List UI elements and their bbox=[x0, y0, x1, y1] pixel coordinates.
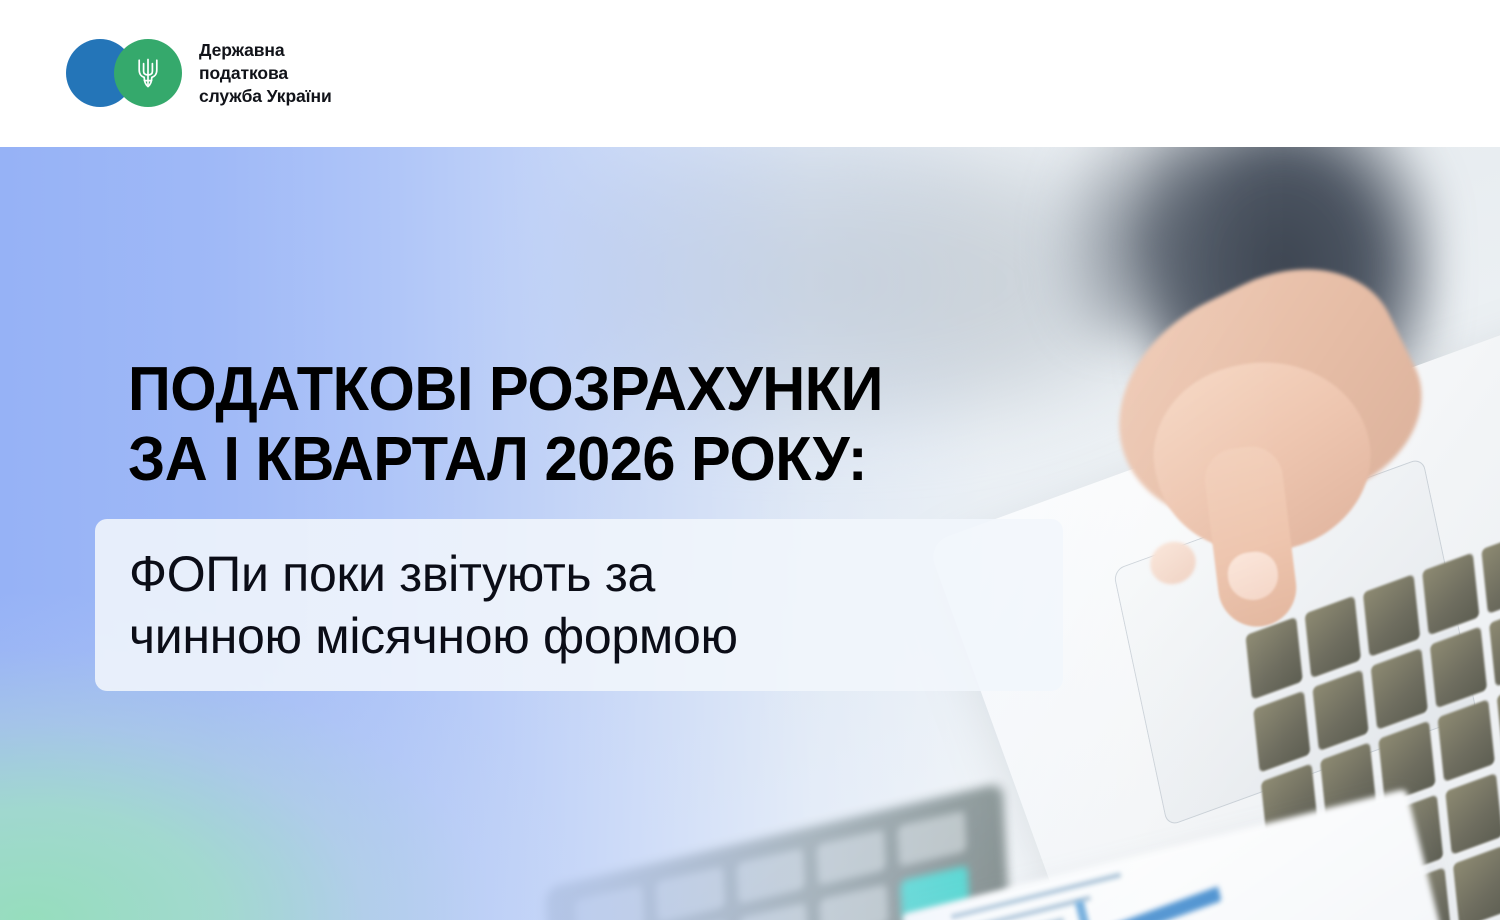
page-title: ПОДАТКОВІ РОЗРАХУНКИ ЗА І КВАРТАЛ 2026 Р… bbox=[128, 355, 883, 495]
hero-copy: ПОДАТКОВІ РОЗРАХУНКИ ЗА І КВАРТАЛ 2026 Р… bbox=[0, 147, 1500, 920]
page-subtitle: ФОПи поки звітують за чинною місячною фо… bbox=[129, 543, 738, 667]
ukrainian-trident-icon bbox=[133, 54, 163, 92]
header-bar: Державна податкова служба України bbox=[0, 0, 1500, 147]
tax-service-announcement-banner: Державна податкова служба України bbox=[0, 0, 1500, 920]
organization-logo[interactable]: Державна податкова служба України bbox=[66, 39, 332, 109]
logo-marks bbox=[66, 39, 182, 107]
logo-text: Державна податкова служба України bbox=[199, 39, 332, 109]
green-circle-icon bbox=[114, 39, 182, 107]
subtitle-panel: ФОПи поки звітують за чинною місячною фо… bbox=[95, 519, 1063, 691]
